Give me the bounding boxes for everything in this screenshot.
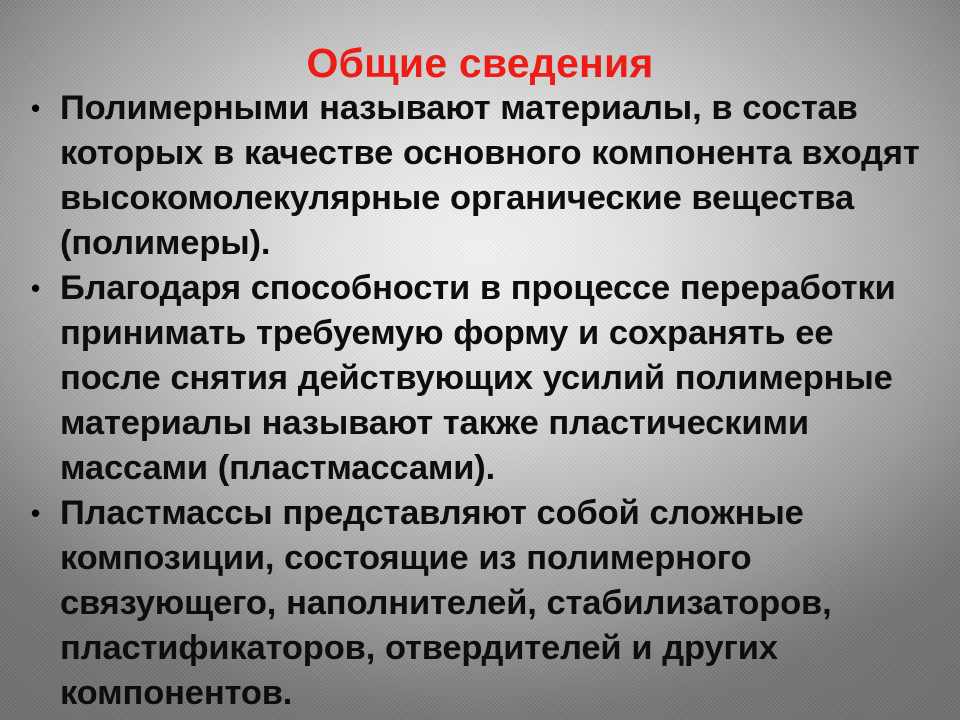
list-item-text: Благодаря способности в процессе перераб…: [60, 266, 926, 491]
list-item: • Полимерными называют материалы, в сост…: [26, 86, 926, 266]
bullet-list: • Полимерными называют материалы, в сост…: [26, 86, 926, 716]
list-item: • Благодаря способности в процессе перер…: [26, 266, 926, 491]
bullet-point-icon: •: [31, 86, 51, 131]
bullet-point-icon: •: [31, 266, 51, 311]
list-item: • Пластмассы представляют собой сложные …: [26, 491, 926, 716]
list-item-text: Пластмассы представляют собой сложные ко…: [60, 491, 926, 716]
bullet-point-icon: •: [31, 491, 51, 536]
page-title: Общие сведения: [0, 41, 960, 87]
presentation-slide: Общие сведения • Полимерными называют ма…: [0, 0, 960, 720]
list-item-text: Полимерными называют материалы, в состав…: [60, 86, 926, 266]
slide-content: Общие сведения • Полимерными называют ма…: [0, 0, 960, 720]
